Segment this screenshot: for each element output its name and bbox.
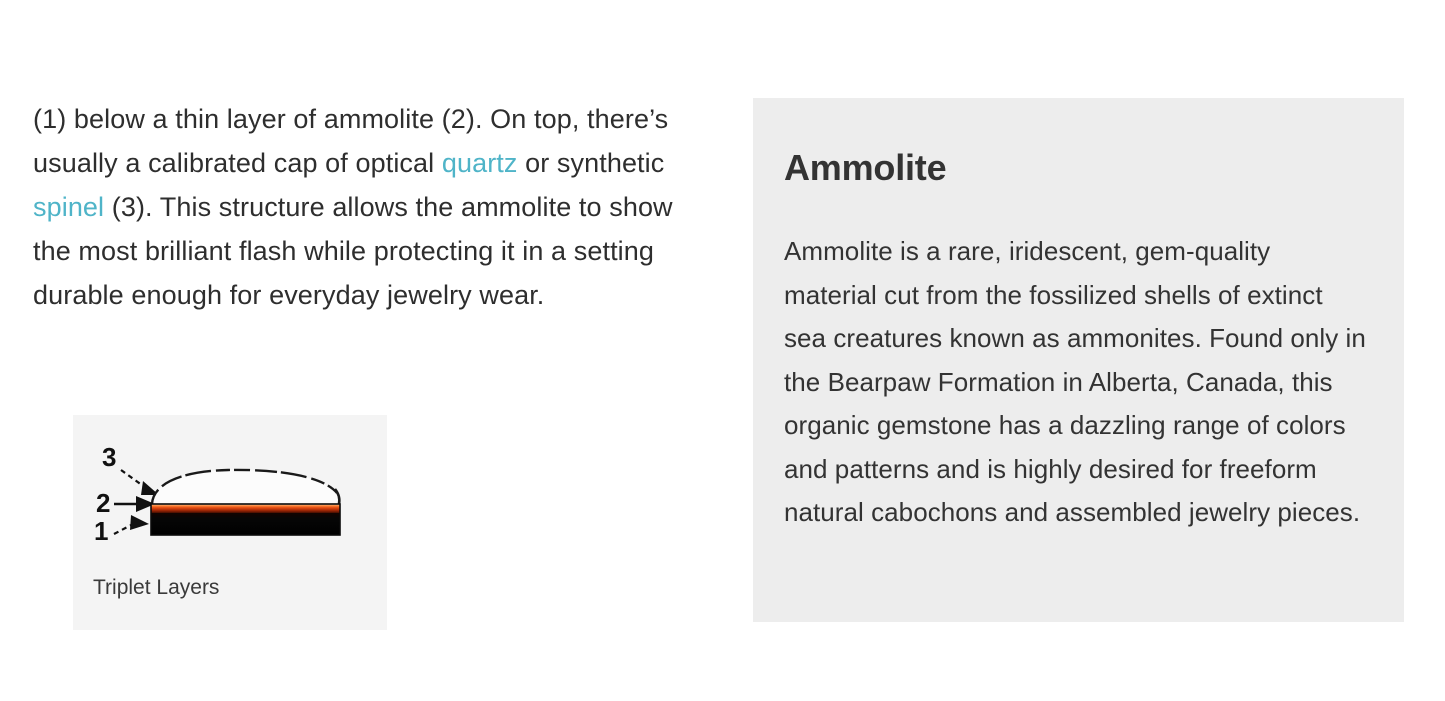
- info-card-title: Ammolite: [784, 128, 1366, 190]
- ammolite-info-card: Ammolite Ammolite is a rare, iridescent,…: [753, 98, 1404, 622]
- diagram-layer-2-ammolite: [151, 504, 340, 514]
- article-paragraph: (1) below a thin layer of ammolite (2). …: [33, 97, 693, 317]
- paragraph-text-middle: or synthetic: [518, 148, 665, 178]
- diagram-label-1: 1: [94, 516, 108, 543]
- diagram-label-2: 2: [96, 488, 110, 518]
- page-root: (1) below a thin layer of ammolite (2). …: [0, 0, 1445, 701]
- info-card-body: Ammolite is a rare, iridescent, gem-qual…: [784, 190, 1366, 535]
- triplet-diagram-image: 3 2 1: [73, 423, 387, 543]
- figure-caption: Triplet Layers: [93, 575, 219, 601]
- triplet-layers-figure: 3 2 1: [73, 415, 387, 630]
- diagram-layer-1-base: [151, 513, 340, 535]
- diagram-label-3: 3: [102, 442, 116, 472]
- article-column: (1) below a thin layer of ammolite (2). …: [33, 97, 693, 317]
- paragraph-text-tail: (3). This structure allows the ammolite …: [33, 192, 673, 310]
- link-quartz[interactable]: quartz: [442, 148, 518, 178]
- link-spinel[interactable]: spinel: [33, 192, 104, 222]
